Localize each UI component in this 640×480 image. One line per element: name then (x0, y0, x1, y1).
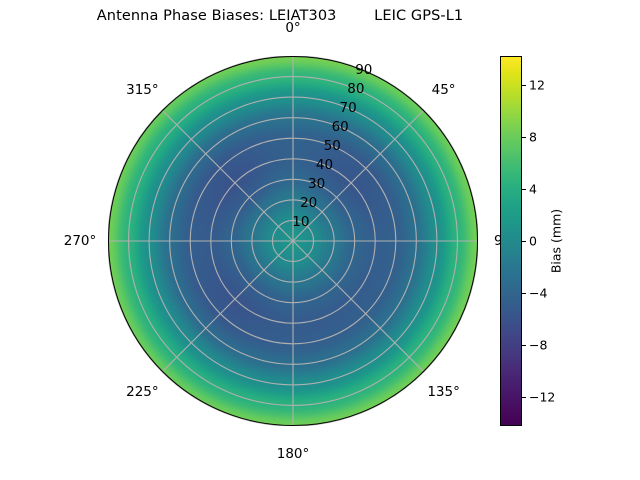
polar-heatmap-canvas (108, 56, 478, 426)
colorbar-tick-mark-4 (522, 293, 526, 294)
colorbar-tick-mark-5 (522, 345, 526, 346)
radial-tick-label-90: 90 (355, 62, 372, 78)
azimuth-tick-label-270: 270° (64, 233, 97, 249)
azimuth-tick-label-135: 135° (427, 384, 460, 400)
radial-tick-label-30: 30 (308, 176, 325, 192)
colorbar-tick-label-6: −12 (529, 390, 555, 405)
colorbar-tick-mark-1 (522, 137, 526, 138)
colorbar-title: Bias (mm) (549, 209, 564, 273)
colorbar-tick-label-5: −8 (529, 338, 547, 353)
colorbar[interactable] (500, 56, 522, 426)
colorbar-tick-mark-6 (522, 397, 526, 398)
colorbar-tick-label-0: 12 (529, 77, 545, 92)
colorbar-tick-mark-3 (522, 241, 526, 242)
colorbar-tick-mark-2 (522, 189, 526, 190)
azimuth-tick-label-315: 315° (126, 82, 159, 98)
polar-heatmap-field (108, 56, 478, 426)
azimuth-tick-label-0: 0° (285, 20, 300, 36)
radial-tick-label-70: 70 (340, 100, 357, 116)
colorbar-tick-label-1: 8 (529, 129, 537, 144)
colorbar-gradient (500, 56, 522, 426)
polar-axes[interactable] (108, 56, 478, 426)
radial-tick-label-20: 20 (300, 195, 317, 211)
chart-title: Antenna Phase Biases: LEIAT303 LEIC GPS-… (0, 8, 560, 24)
azimuth-tick-label-180: 180° (277, 446, 310, 462)
figure-canvas: Antenna Phase Biases: LEIAT303 LEIC GPS-… (0, 0, 640, 480)
colorbar-tick-label-2: 4 (529, 181, 537, 196)
colorbar-tick-mark-0 (522, 85, 526, 86)
radial-tick-label-10: 10 (292, 214, 309, 230)
polar-data-region (108, 56, 478, 426)
colorbar-tick-label-3: 0 (529, 234, 537, 249)
colorbar-tick-label-4: −4 (529, 286, 547, 301)
azimuth-tick-label-45: 45° (432, 82, 456, 98)
radial-tick-label-80: 80 (347, 81, 364, 97)
radial-tick-label-40: 40 (316, 157, 333, 173)
radial-tick-label-60: 60 (332, 119, 349, 135)
azimuth-tick-label-225: 225° (126, 384, 159, 400)
radial-tick-label-50: 50 (324, 138, 341, 154)
